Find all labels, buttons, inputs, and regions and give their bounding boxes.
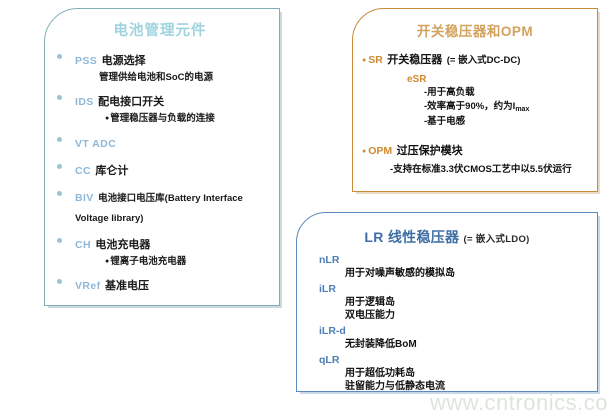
lr-key: qLR: [319, 353, 597, 367]
list-item: nLR 用于对噪声敏感的模拟岛: [297, 253, 597, 281]
panel-lr-title: LR 线性稳压器 (= 嵌入式LDO): [297, 227, 597, 247]
item-abbr: PSS: [75, 55, 97, 67]
sr-bullet: -基于电感: [424, 115, 597, 129]
sr-name: 开关稳压器: [387, 54, 442, 66]
item-abbr: CC: [75, 165, 91, 177]
sr-bullet: -用于高负载: [424, 86, 597, 100]
item-abbr: VT ADC: [75, 138, 116, 150]
list-item: CC 库仑计: [45, 160, 279, 180]
sr-paren: (= 嵌入式DC-DC): [447, 55, 521, 66]
item-name: 电源选择: [102, 55, 146, 67]
list-item: PSS 电源选择 管理供给电池和SoC的电源: [45, 50, 279, 84]
item-name: 电池充电器: [95, 239, 150, 251]
panel-linear-regulators: LR 线性稳压器 (= 嵌入式LDO) nLR 用于对噪声敏感的模拟岛 iLR …: [296, 212, 598, 392]
bullet-dot-icon: [57, 95, 62, 100]
list-item: VRef 基准电压: [45, 275, 279, 295]
sr-bullet: -效率高于90%，约为Imax: [424, 100, 597, 115]
lr-key: nLR: [319, 253, 597, 267]
sr-entry: SR 开关稳压器 (= 嵌入式DC-DC) eSR -用于高负载 -效率高于90…: [353, 49, 597, 128]
bullet-dot-icon: [57, 54, 62, 59]
opm-abbr: OPM: [362, 145, 392, 157]
item-abbr: BIV: [75, 192, 94, 204]
list-item: IDS 配电接口开关 管理稳压器与负载的连接: [45, 91, 279, 125]
opm-entry: OPM 过压保护模块 -支持在标准3.3伏CMOS工艺中以5.5伏运行: [353, 140, 597, 176]
lr-value: 用于逻辑岛: [345, 296, 597, 310]
item-subtext: 锂离子电池充电器: [105, 256, 279, 268]
item-name: 基准电压: [105, 280, 149, 292]
list-item: qLR 用于超低功耗岛 驻留能力与低静态电流: [297, 353, 597, 394]
opm-name: 过压保护模块: [397, 145, 463, 157]
sr-abbr: SR: [362, 54, 383, 66]
sr-bullet-subscript: max: [515, 106, 529, 113]
lr-value: 用于超低功耗岛: [345, 367, 597, 381]
watermark: www.cntronics.com: [430, 390, 608, 416]
lr-key: iLR-d: [319, 324, 597, 338]
panel-battery-title: 电池管理元件: [45, 19, 279, 40]
sr-bullet-text: -效率高于90%，约为I: [424, 101, 515, 112]
lr-value: 无封装降低BoM: [345, 338, 597, 352]
item-name: 电池接口电压库(Battery Interface Voltage librar…: [75, 193, 243, 224]
item-abbr: CH: [75, 239, 91, 251]
panel-battery-management: 电池管理元件 PSS 电源选择 管理供给电池和SoC的电源 IDS 配电接口开关…: [44, 8, 280, 306]
sr-sublabel: eSR: [407, 73, 597, 86]
opm-bullet: -支持在标准3.3伏CMOS工艺中以5.5伏运行: [390, 163, 597, 176]
item-subtext: 管理稳压器与负载的连接: [105, 113, 279, 125]
slide-canvas: 电池管理元件 PSS 电源选择 管理供给电池和SoC的电源 IDS 配电接口开关…: [0, 0, 608, 418]
lr-key: iLR: [319, 282, 597, 296]
item-abbr: VRef: [75, 280, 101, 292]
battery-item-list: PSS 电源选择 管理供给电池和SoC的电源 IDS 配电接口开关 管理稳压器与…: [45, 50, 279, 295]
item-abbr: IDS: [75, 96, 94, 108]
panel-lr-title-name: 线性稳压器: [388, 229, 460, 245]
list-item: iLR 用于逻辑岛 双电压能力: [297, 282, 597, 323]
item-subtext: 管理供给电池和SoC的电源: [99, 72, 279, 84]
list-item: iLR-d 无封装降低BoM: [297, 324, 597, 352]
panel-sr-title: 开关稳压器和OPM: [353, 20, 597, 40]
bullet-dot-icon: [57, 137, 62, 142]
item-name: 配电接口开关: [98, 96, 164, 108]
panel-lr-title-abbr: LR: [364, 229, 383, 245]
panel-lr-title-paren: (= 嵌入式LDO): [464, 234, 530, 245]
lr-value: 双电压能力: [345, 309, 597, 323]
bullet-dot-icon: [57, 191, 62, 196]
bullet-dot-icon: [57, 279, 62, 284]
list-item: CH 电池充电器 锂离子电池充电器: [45, 234, 279, 268]
lr-value: 用于对噪声敏感的模拟岛: [345, 267, 597, 281]
spacer: [353, 129, 597, 140]
panel-switching-regulators: 开关稳压器和OPM SR 开关稳压器 (= 嵌入式DC-DC) eSR -用于高…: [352, 8, 598, 192]
item-name: 库仑计: [95, 165, 128, 177]
list-item: VT ADC: [45, 133, 279, 153]
bullet-dot-icon: [57, 164, 62, 169]
list-item: BIV 电池接口电压库(Battery Interface Voltage li…: [45, 187, 279, 227]
bullet-dot-icon: [57, 238, 62, 243]
